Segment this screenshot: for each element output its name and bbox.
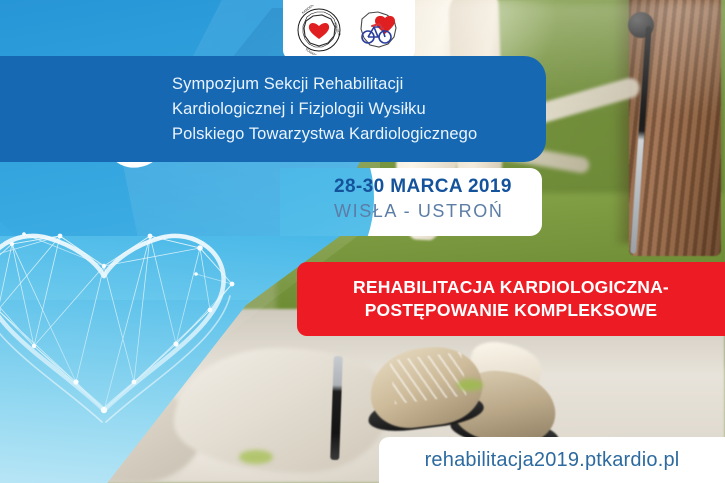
network-heart-graphic	[0, 214, 244, 434]
website-panel[interactable]: rehabilitacja2019.ptkardio.pl	[379, 437, 725, 483]
cycling-heart-logo-icon	[353, 5, 405, 55]
theme-line-1: REHABILITACJA KARDIOLOGICZNA-	[353, 276, 669, 299]
event-location: WISŁA - USTROŃ	[334, 201, 512, 222]
conference-poster: KARDIOLOGICZNE TOWARZYSTWO POLSKIE Sympo…	[0, 0, 725, 483]
title-banner: Sympozjum Sekcji Rehabilitacji Kardiolog…	[0, 56, 546, 162]
website-url[interactable]: rehabilitacja2019.ptkardio.pl	[425, 449, 680, 472]
title-line-1: Sympozjum Sekcji Rehabilitacji	[172, 72, 477, 97]
theme-banner: REHABILITACJA KARDIOLOGICZNA- POSTĘPOWAN…	[297, 262, 725, 336]
partner-logos-bar: KARDIOLOGICZNE TOWARZYSTWO POLSKIE	[283, 0, 415, 60]
date-location-card: 28-30 MARCA 2019 WISŁA - USTROŃ	[280, 168, 542, 236]
theme-line-2: POSTĘPOWANIE KOMPLEKSOWE	[365, 299, 658, 322]
title-text-block: Sympozjum Sekcji Rehabilitacji Kardiolog…	[0, 72, 477, 147]
event-date: 28-30 MARCA 2019	[334, 176, 512, 198]
ptk-logo-icon: KARDIOLOGICZNE TOWARZYSTWO POLSKIE	[293, 5, 345, 55]
title-line-2: Kardiologicznej i Fizjologii Wysiłku	[172, 97, 477, 122]
title-line-3: Polskiego Towarzystwa Kardiologicznego	[172, 122, 477, 147]
date-card-text: 28-30 MARCA 2019 WISŁA - USTROŃ	[334, 176, 512, 222]
